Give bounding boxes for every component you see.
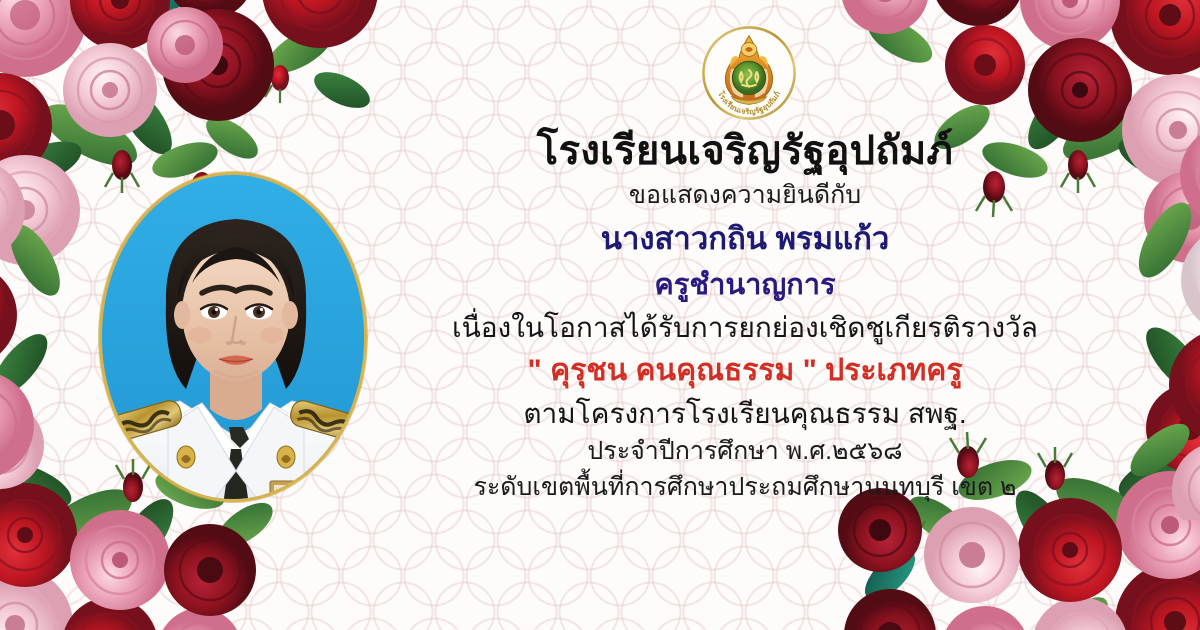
education-area: ระดับเขตพื้นที่การศึกษาประถมศึกษานนทบุรี… <box>390 473 1100 503</box>
recipient-position: ครูชำนาญการ <box>390 268 1100 302</box>
award-name: " คุรุชน คนคุณธรรม " ประเภทครู <box>390 353 1100 388</box>
school-name: โรงเรียนเจริญรัฐอุปถัมภ์ <box>390 128 1100 175</box>
recipient-name: นางสาวกถิน พรมแก้ว <box>390 221 1100 258</box>
occasion-text: เนื่องในโอกาสได้รับการยกย่องเชิดชูเกียรต… <box>390 311 1100 344</box>
school-emblem-icon: โรงเรียนเจริญรัฐอุปถัมภ์ <box>700 24 798 122</box>
congratulation-card: โรงเรียนเจริญรัฐอุปถัมภ์ <box>0 0 1200 630</box>
academic-year: ประจำปีการศึกษา พ.ศ.๒๕๖๘ <box>390 437 1100 467</box>
portrait-illustration <box>102 175 367 502</box>
project-name: ตามโครงการโรงเรียนคุณธรรม สพฐ. <box>390 397 1100 430</box>
message-block: โรงเรียนเจริญรัฐอุปถัมภ์ ขอแสดงความยินดี… <box>390 128 1100 503</box>
teacher-portrait <box>99 172 367 502</box>
congratulations: ขอแสดงความยินดีกับ <box>390 181 1100 211</box>
